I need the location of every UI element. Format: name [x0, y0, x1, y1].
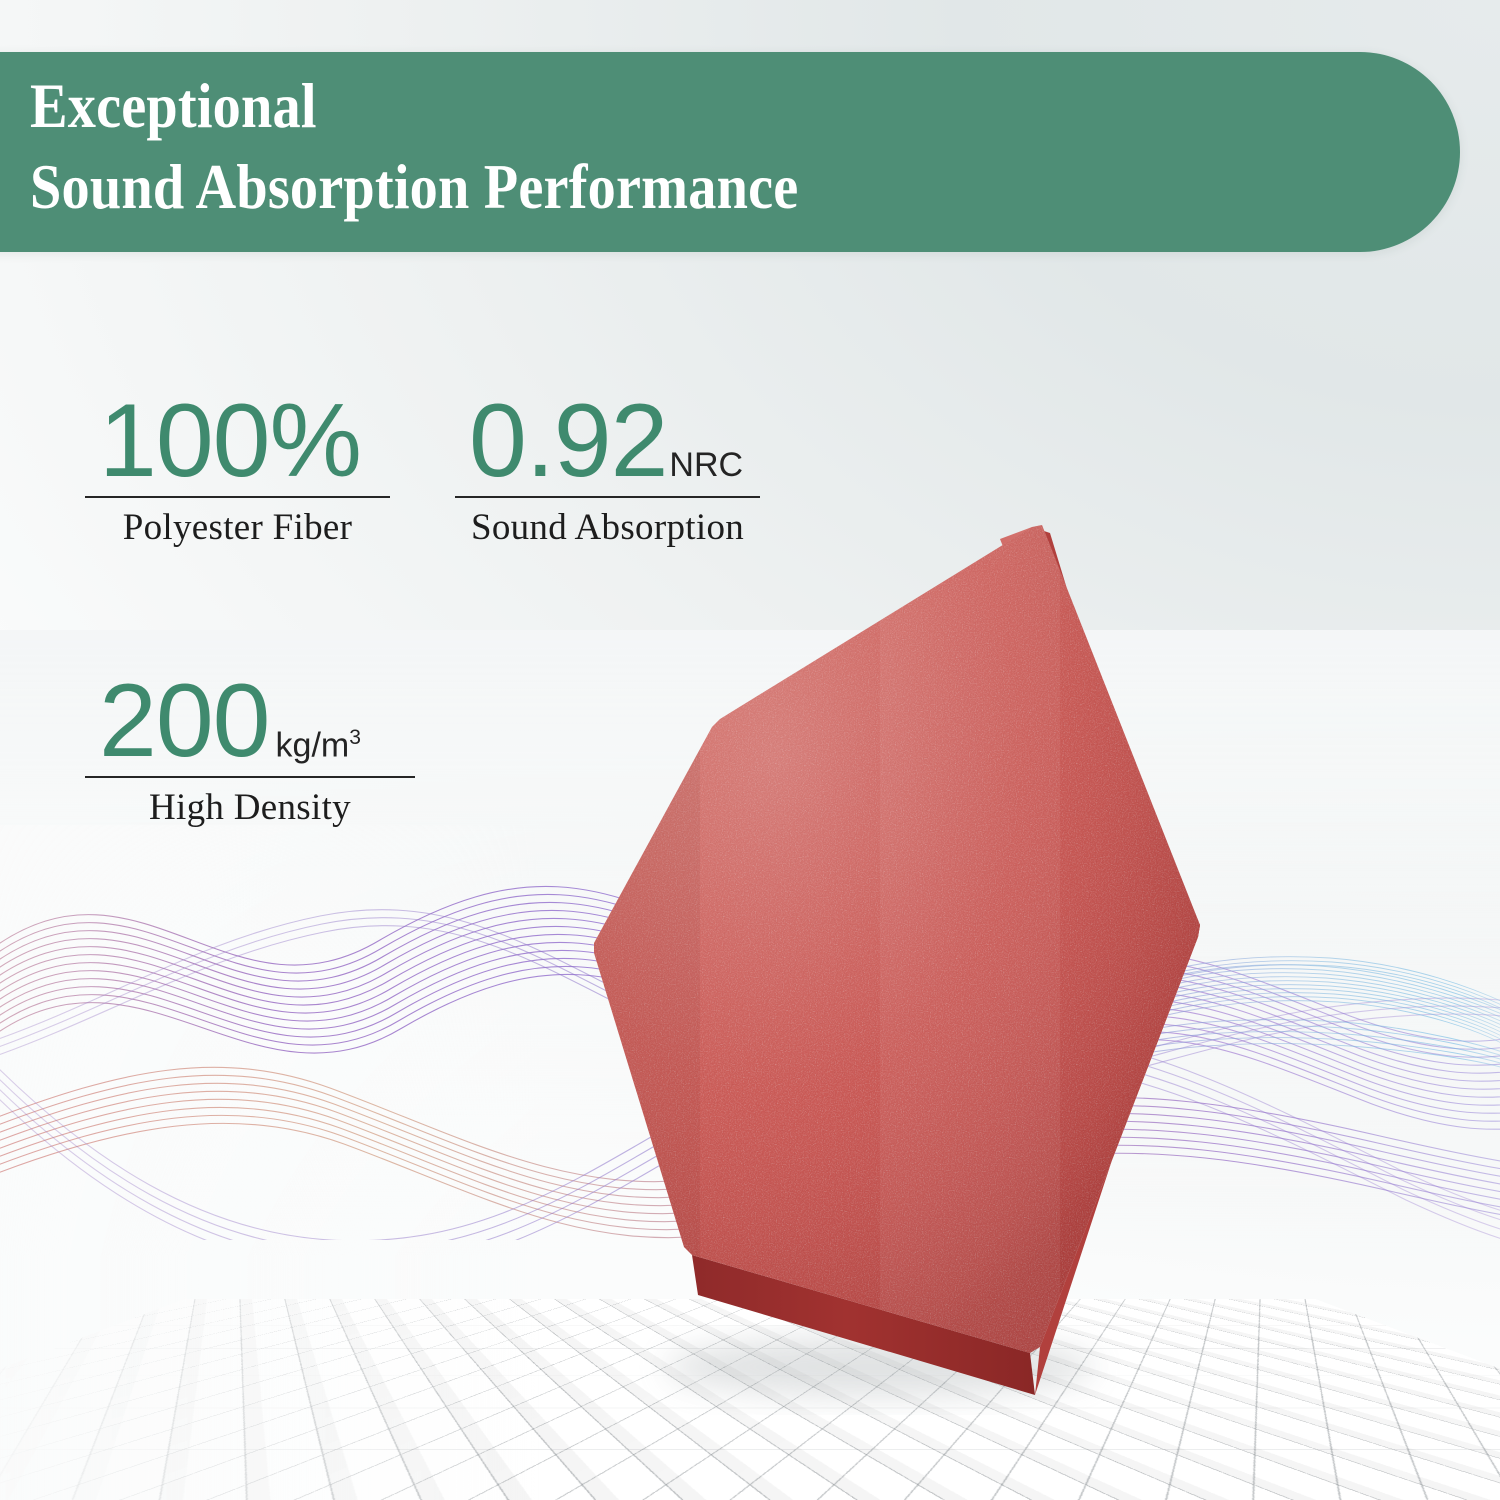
stat-value: 0.92 — [469, 392, 667, 492]
stat-value-row: 200 kg/m3 — [85, 672, 415, 776]
stat-value-row: 0.92 NRC — [455, 392, 760, 496]
header-banner: Exceptional Sound Absorption Performance — [0, 52, 1460, 252]
promo-infographic: Exceptional Sound Absorption Performance… — [0, 0, 1500, 1500]
stat-unit-exponent: 3 — [349, 726, 361, 749]
stat-unit: kg/m3 — [276, 727, 361, 762]
stat-unit: NRC — [669, 448, 743, 482]
stat-value: 100% — [99, 392, 361, 492]
stat-unit-base: kg/m — [276, 726, 350, 764]
stat-label: High Density — [85, 778, 415, 829]
stat-label: Polyester Fiber — [85, 498, 390, 549]
stat-density: 200 kg/m3 High Density — [85, 672, 415, 829]
stat-value: 200 — [99, 672, 270, 772]
page-title: Exceptional Sound Absorption Performance — [30, 66, 798, 227]
stat-polyester-fiber: 100% Polyester Fiber — [85, 392, 390, 549]
stat-label: Sound Absorption — [455, 498, 760, 549]
stat-value-row: 100% — [85, 392, 390, 496]
stat-nrc: 0.92 NRC Sound Absorption — [455, 392, 760, 549]
hexagon-acoustic-panel — [580, 495, 1220, 1425]
